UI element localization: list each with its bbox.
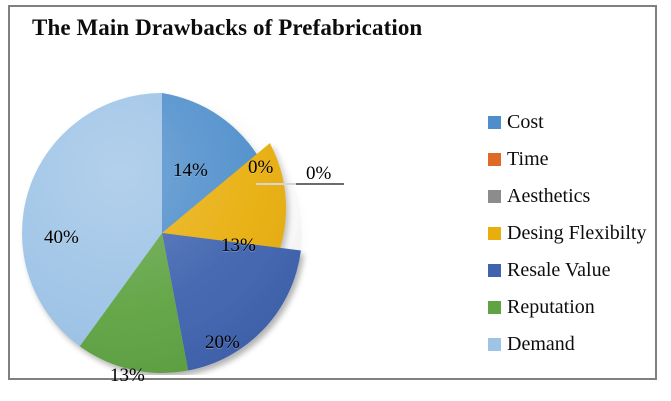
legend-item-desing-flexibilty[interactable]: Desing Flexibilty xyxy=(488,214,663,251)
legend-item-cost[interactable]: Cost xyxy=(488,103,663,140)
pie-chart-svg xyxy=(10,55,470,375)
legend-item-reputation[interactable]: Reputation xyxy=(488,288,663,325)
pie-chart-plot-area: 14% 0% 0% 13% 20% 13% 40% xyxy=(10,55,470,375)
legend-swatch-icon xyxy=(488,190,501,203)
chart-frame: The Main Drawbacks of Prefabrication xyxy=(8,5,657,380)
legend-swatch-icon xyxy=(488,227,501,240)
slice-label-aesthetics: 0% xyxy=(306,163,331,185)
legend-label: Time xyxy=(507,149,549,169)
legend-swatch-icon xyxy=(488,338,501,351)
legend-swatch-icon xyxy=(488,301,501,314)
slice-label-time: 0% xyxy=(248,157,273,179)
slice-label-resale-value: 20% xyxy=(205,332,240,354)
legend-item-time[interactable]: Time xyxy=(488,140,663,177)
legend-label: Aesthetics xyxy=(507,186,590,206)
legend-item-aesthetics[interactable]: Aesthetics xyxy=(488,177,663,214)
legend-label: Reputation xyxy=(507,297,595,317)
slice-label-demand: 40% xyxy=(44,227,79,249)
legend-label: Resale Value xyxy=(507,260,611,280)
leader-line-time xyxy=(256,183,298,185)
slice-label-desing-flexibilty: 13% xyxy=(221,235,256,257)
legend-item-resale-value[interactable]: Resale Value xyxy=(488,251,663,288)
legend-swatch-icon xyxy=(488,153,501,166)
slice-label-cost: 14% xyxy=(173,160,208,182)
chart-title: The Main Drawbacks of Prefabrication xyxy=(32,15,422,41)
legend-swatch-icon xyxy=(488,116,501,129)
legend-label: Desing Flexibilty xyxy=(507,223,646,243)
legend-item-demand[interactable]: Demand xyxy=(488,325,663,362)
legend-label: Cost xyxy=(507,112,544,132)
slice-label-reputation: 13% xyxy=(110,365,145,387)
legend-label: Demand xyxy=(507,334,575,354)
legend-swatch-icon xyxy=(488,264,501,277)
chart-legend: Cost Time Aesthetics Desing Flexibilty R… xyxy=(488,103,663,362)
